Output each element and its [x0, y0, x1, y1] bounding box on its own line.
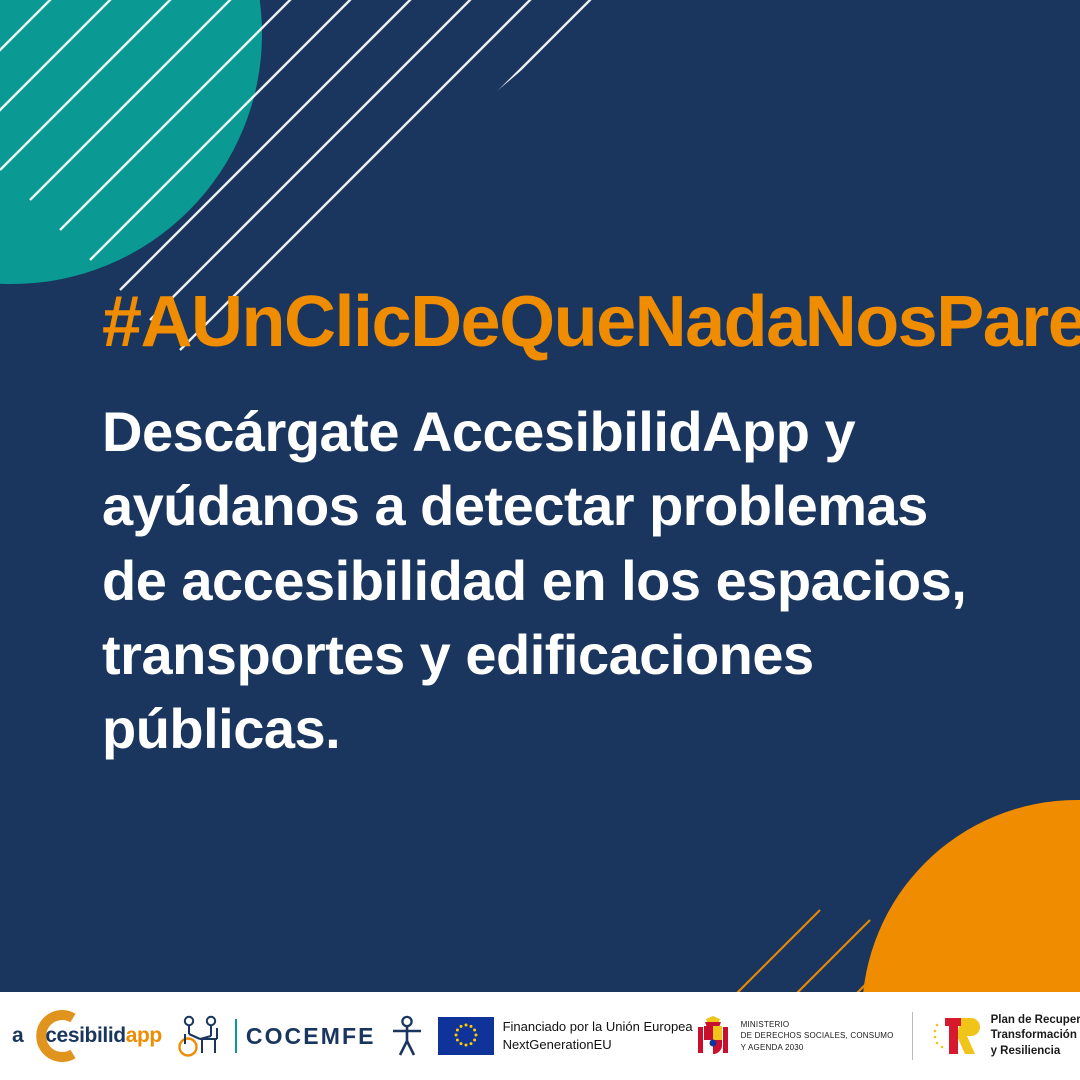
- cocemfe-divider: [235, 1019, 237, 1053]
- campaign-poster: #AUnClicDeQueNadaNosPare Descárgate Acce…: [0, 0, 1080, 1080]
- eu-funding-text: Financiado por la Unión Europea NextGene…: [503, 1018, 693, 1053]
- campaign-hashtag: #AUnClicDeQueNadaNosPare: [102, 285, 972, 361]
- ministerio-line-2: DE DERECHOS SOCIALES, CONSUMO: [741, 1030, 894, 1041]
- ministerio-line-3: Y AGENDA 2030: [741, 1042, 894, 1053]
- cocemfe-wordmark: COCEMFE: [246, 1023, 376, 1050]
- ministerio-logo: MINISTERIO DE DERECHOS SOCIALES, CONSUMO…: [693, 1012, 894, 1060]
- poster-copy: #AUnClicDeQueNadaNosPare Descárgate Acce…: [102, 285, 992, 767]
- ministerio-text: MINISTERIO DE DERECHOS SOCIALES, CONSUMO…: [741, 1019, 894, 1053]
- plan-recuperacion-text: Plan de Recuperación, Transformación y R…: [991, 1013, 1080, 1060]
- ministerio-line-1: MINISTERIO: [741, 1019, 894, 1030]
- eu-funding-logo: Financiado por la Unión Europea NextGene…: [438, 1017, 693, 1055]
- footer-right-group: MINISTERIO DE DERECHOS SOCIALES, CONSUMO…: [693, 1012, 1080, 1060]
- cocemfe-logo[interactable]: COCEMFE: [176, 1014, 376, 1058]
- spain-coat-of-arms-icon: [693, 1012, 733, 1060]
- accesibilidapp-c-arc-icon: [28, 1010, 84, 1062]
- eu-line-2: NextGenerationEU: [503, 1036, 693, 1054]
- accesibilidapp-logo[interactable]: acesibilidapp: [12, 1008, 162, 1064]
- plan-recuperacion-logo: Plan de Recuperación, Transformación y R…: [931, 1013, 1080, 1060]
- plan-line-1: Plan de Recuperación,: [991, 1013, 1080, 1029]
- plan-line-3: y Resiliencia: [991, 1044, 1080, 1060]
- plan-recuperacion-r-logo-icon: [931, 1014, 983, 1058]
- footer-logo-bar: acesibilidapp: [0, 992, 1080, 1080]
- footer-divider: [912, 1012, 913, 1060]
- accessibility-person-logo: [390, 1014, 424, 1058]
- two-people-wheelchair-icon: [176, 1014, 226, 1058]
- plan-line-2: Transformación: [991, 1028, 1080, 1044]
- aa-prefix: a: [12, 1024, 23, 1047]
- european-union-flag-icon: [438, 1017, 494, 1055]
- footer-left-group: acesibilidapp: [0, 1008, 693, 1064]
- aa-suffix: app: [126, 1024, 162, 1047]
- accessibility-person-icon: [390, 1014, 424, 1058]
- campaign-body-text: Descárgate AccesibilidApp y ayúdanos a d…: [102, 395, 982, 767]
- eu-line-1: Financiado por la Unión Europea: [503, 1018, 693, 1036]
